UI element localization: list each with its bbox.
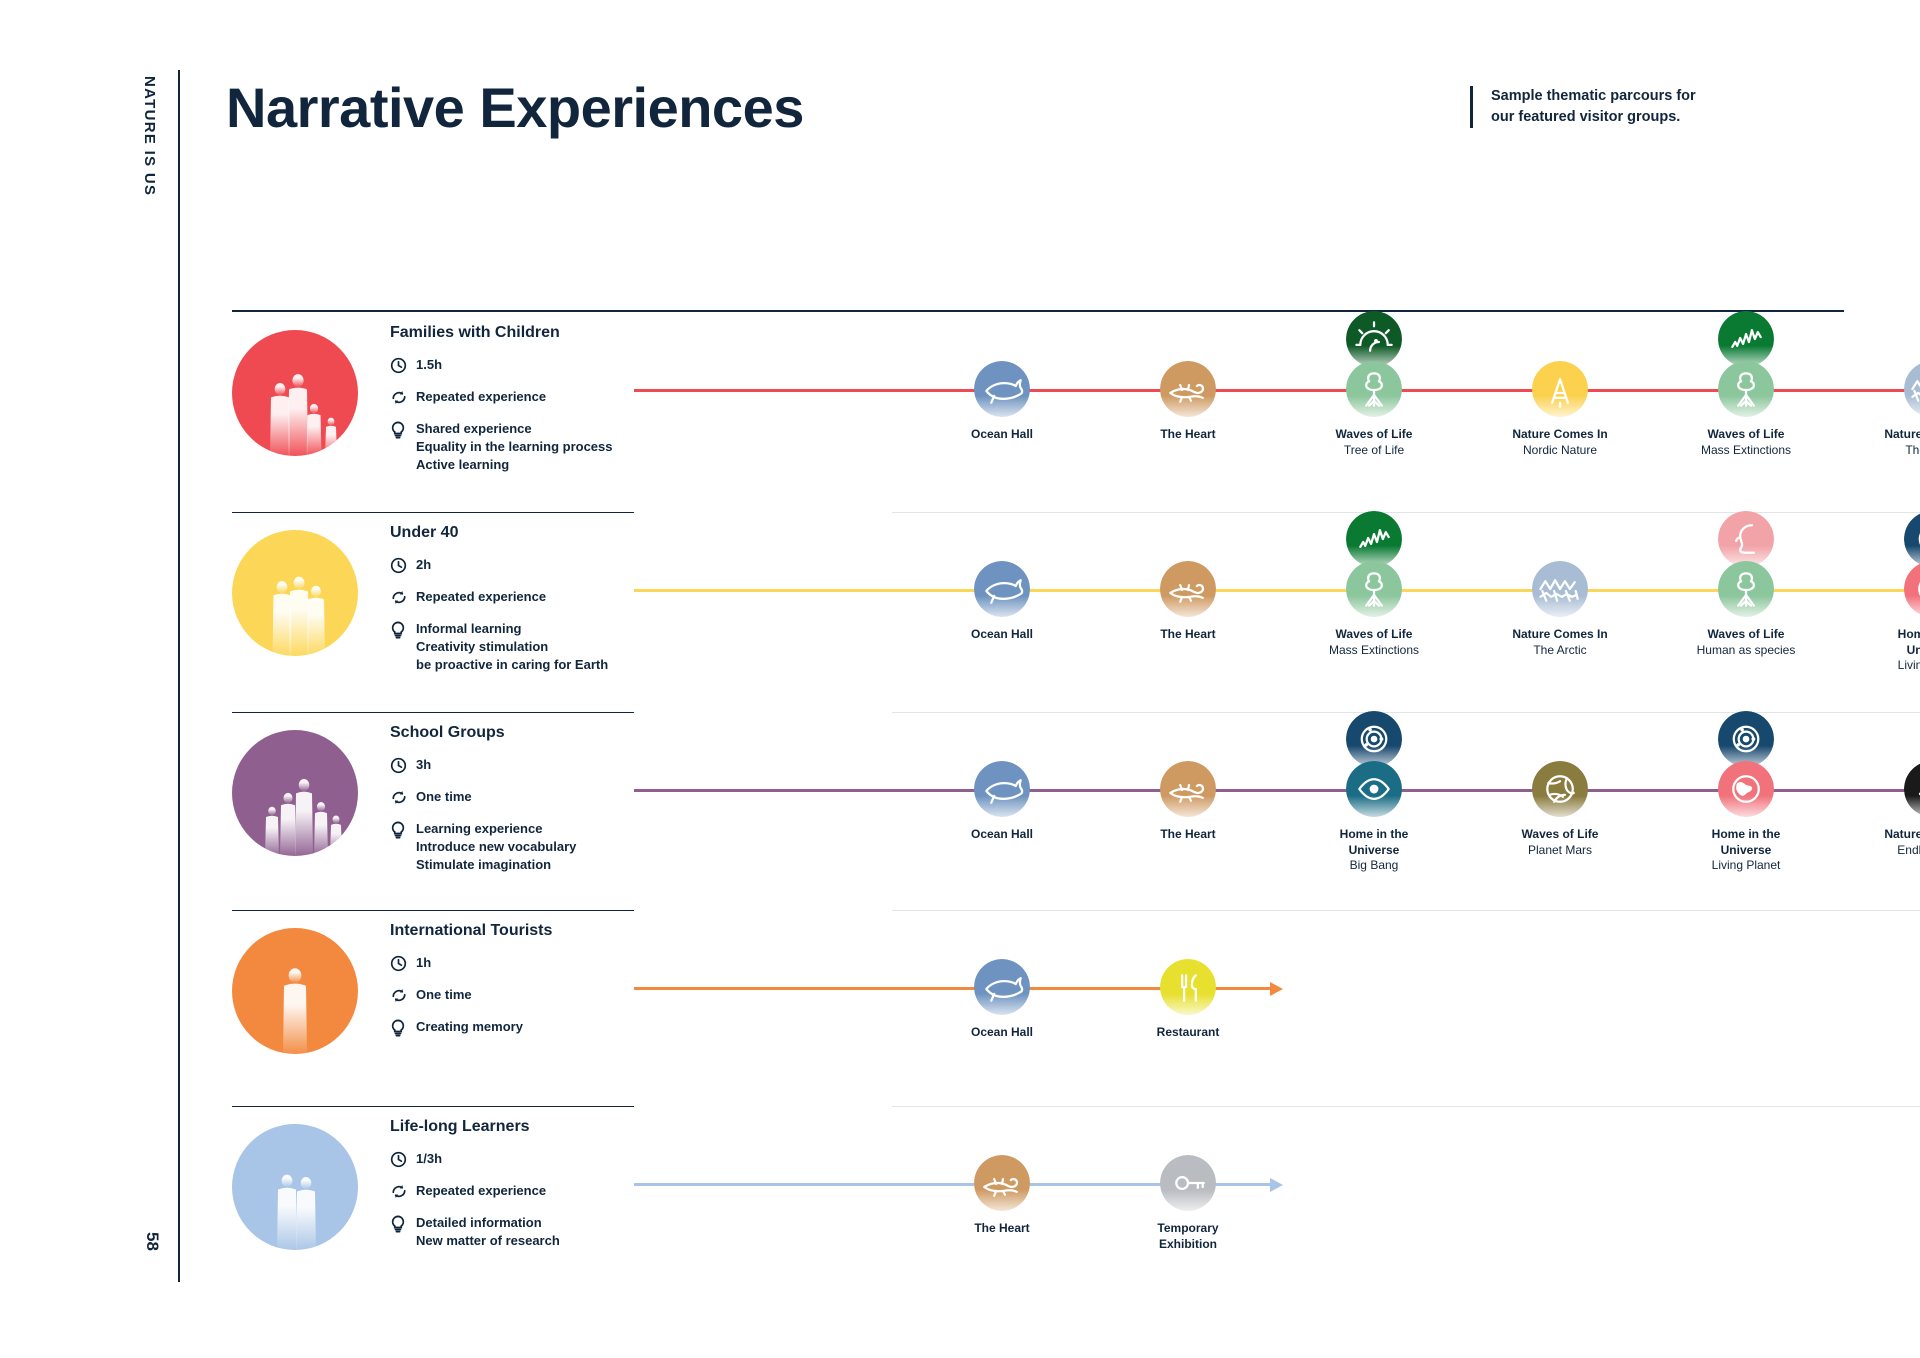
- repeat-icon: [390, 1182, 416, 1205]
- visitor-group-avatar: [232, 730, 358, 856]
- parcours-stop-icons[interactable]: [1346, 761, 1402, 817]
- visitor-group-attribute-text: 2h: [416, 556, 431, 574]
- parcours-stop-label: Ocean Hall: [947, 427, 1057, 443]
- visitor-group-attribute-text: Repeated experience: [416, 388, 546, 406]
- visitor-group-details: Families with Children1.5hRepeated exper…: [390, 324, 640, 483]
- parcours-stop-icons[interactable]: [974, 1155, 1030, 1211]
- parcours-stop-label: Waves of Life: [1319, 427, 1429, 443]
- parcours-stop[interactable]: Nature Comes InThe Arctic: [1505, 561, 1615, 658]
- visitor-group-attribute: 1/3h: [390, 1150, 640, 1173]
- visitor-group-attribute-text: 1h: [416, 954, 431, 972]
- tree-of-life-icon[interactable]: [1718, 561, 1774, 617]
- parcours-stop-icons[interactable]: [1904, 761, 1920, 817]
- parcours-stop-label: The Heart: [1133, 627, 1243, 643]
- salamander-icon[interactable]: [1160, 361, 1216, 417]
- family-with-children-silhouette: [232, 330, 358, 456]
- visitor-group-attribute-text: One time: [416, 788, 472, 806]
- parcours-stop-sublabel: The Arctic: [1505, 643, 1615, 659]
- clock-icon: [390, 954, 416, 977]
- parcours-stop-sublabel: Mass Extinctions: [1319, 643, 1429, 659]
- visitor-group-parcours: Ocean Hall The Heart: [634, 312, 1844, 512]
- whale-icon[interactable]: [974, 361, 1030, 417]
- visitor-group-attribute-text: Creating memory: [416, 1018, 523, 1036]
- visitor-group-name: International Tourists: [390, 922, 640, 940]
- visitor-group-attribute: Repeated experience: [390, 1182, 640, 1205]
- parcours-stop-label: Nature Comes In: [1877, 427, 1920, 443]
- page-title: Narrative Experiences: [226, 80, 804, 136]
- visitor-group-goal: Creativity stimulation: [416, 638, 608, 656]
- iceberg-icon[interactable]: [1532, 561, 1588, 617]
- clock-icon: [390, 556, 416, 579]
- visitor-group-profile: Life-long Learners1/3hRepeated experienc…: [232, 1106, 634, 1302]
- parcours-stop[interactable]: Waves of LifeHuman as species: [1691, 561, 1801, 658]
- visitor-group-row[interactable]: Under 402hRepeated experienceInformal le…: [232, 512, 1844, 712]
- visitor-group-attribute: 2h: [390, 556, 640, 579]
- repeat-icon: [390, 388, 416, 411]
- school-group-silhouette: [232, 730, 358, 856]
- visitor-group-goal: New matter of research: [416, 1232, 560, 1250]
- big-bang-eye-icon[interactable]: [1346, 761, 1402, 817]
- visitor-group-row[interactable]: Families with Children1.5hRepeated exper…: [232, 312, 1844, 512]
- parcours-stop-label: Ocean Hall: [947, 1025, 1057, 1041]
- visitor-group-attribute: Creating memory: [390, 1018, 640, 1042]
- visitor-group-attribute-text: 1/3h: [416, 1150, 442, 1168]
- parcours-stop-label: Waves of Life: [1691, 427, 1801, 443]
- parcours-stop[interactable]: Waves of LifeMass Extinctions: [1691, 361, 1801, 458]
- visitor-group-attribute: Shared experienceEquality in the learnin…: [390, 420, 640, 474]
- atom-orbit-icon[interactable]: [1718, 711, 1774, 767]
- visitor-group-parcours: Ocean Hall The Heart: [634, 512, 1844, 712]
- header-caption: Sample thematic parcours for our feature…: [1470, 86, 1696, 128]
- parcours-stop-icons[interactable]: [1718, 361, 1774, 417]
- visitor-group-goal: Introduce new vocabulary: [416, 838, 576, 856]
- salamander-icon[interactable]: [974, 1155, 1030, 1211]
- visitor-group-goal: Equality in the learning process: [416, 438, 613, 456]
- parcours-stop-label: Home in the Universe: [1877, 627, 1920, 658]
- page-number: 58: [142, 1232, 162, 1251]
- visitor-group-goal: Stimulate imagination: [416, 856, 576, 874]
- parcours-stop-icons[interactable]: [974, 561, 1030, 617]
- parcours-stop-label: Waves of Life: [1505, 827, 1615, 843]
- parcours-stop[interactable]: Nature Comes InEndless Void: [1877, 761, 1920, 858]
- parcours-stop-sublabel: Tree of Life: [1319, 443, 1429, 459]
- visitor-group-name: Families with Children: [390, 324, 640, 342]
- visitor-group-attribute: Repeated experience: [390, 588, 640, 611]
- parcours-stop-label: The Heart: [1133, 827, 1243, 843]
- parcours-stop-icons[interactable]: [1160, 959, 1216, 1015]
- visitor-group-attribute-text: Repeated experience: [416, 1182, 546, 1200]
- header-caption-line-1: Sample thematic parcours for: [1491, 86, 1696, 107]
- parcours-stop-icons[interactable]: [1160, 1155, 1216, 1211]
- parcours-stop-icons[interactable]: [1532, 761, 1588, 817]
- tree-of-life-icon[interactable]: [1346, 561, 1402, 617]
- extinction-graph-icon[interactable]: [1718, 311, 1774, 367]
- parcours-stop-icons[interactable]: [974, 761, 1030, 817]
- visitor-group-goal: Active learning: [416, 456, 613, 474]
- lightbulb-icon: [390, 1018, 416, 1042]
- parcours-stop-icons[interactable]: [1160, 361, 1216, 417]
- salamander-icon[interactable]: [1160, 761, 1216, 817]
- living-planet-icon[interactable]: [1718, 761, 1774, 817]
- parcours-stop[interactable]: Ocean Hall: [947, 561, 1057, 643]
- parcours-stop-icons[interactable]: [1160, 561, 1216, 617]
- salamander-icon[interactable]: [1160, 561, 1216, 617]
- visitor-group-parcours: The Heart Temporary Exhibition: [634, 1106, 1844, 1302]
- parcours-stop[interactable]: Nature Comes InNordic Nature: [1505, 361, 1615, 458]
- atom-orbit-icon[interactable]: [1904, 511, 1920, 567]
- visitor-group-goal: be proactive in caring for Earth: [416, 656, 608, 674]
- visitor-group-attribute-text: Detailed informationNew matter of resear…: [416, 1214, 560, 1250]
- clock-icon: [390, 356, 416, 379]
- parcours-stop-label: Home in the Universe: [1319, 827, 1429, 858]
- parcours-stop[interactable]: Nature Comes InThe Arctic: [1877, 361, 1920, 458]
- parcours-stop[interactable]: Ocean Hall: [947, 959, 1057, 1041]
- visitor-group-attribute: Detailed informationNew matter of resear…: [390, 1214, 640, 1250]
- visitor-group-attribute-text: Repeated experience: [416, 588, 546, 606]
- narrative-experiences-page: NATURE IS US 58 Narrative Experiences Sa…: [0, 0, 1920, 1358]
- visitor-group-attribute: Informal learningCreativity stimulationb…: [390, 620, 640, 674]
- parcours-stop-icons[interactable]: [1532, 561, 1588, 617]
- visitor-group-attribute: 3h: [390, 756, 640, 779]
- visitor-group-details: Under 402hRepeated experienceInformal le…: [390, 524, 640, 683]
- parcours-stop-icons[interactable]: [1346, 361, 1402, 417]
- visitor-group-attribute-text: One time: [416, 986, 472, 1004]
- conifer-icon[interactable]: [1532, 361, 1588, 417]
- visitor-group-goal: Informal learning: [416, 620, 608, 638]
- living-planet-icon[interactable]: [1904, 561, 1920, 617]
- cutlery-icon[interactable]: [1160, 959, 1216, 1015]
- header-caption-line-2: our featured visitor groups.: [1491, 107, 1696, 128]
- young-adults-silhouette: [232, 530, 358, 656]
- parcours-stop[interactable]: Waves of LifeTree of Life: [1319, 361, 1429, 458]
- repeat-icon: [390, 986, 416, 1009]
- visitor-group-goal: Detailed information: [416, 1214, 560, 1232]
- human-head-icon[interactable]: [1718, 511, 1774, 567]
- lightbulb-icon: [390, 620, 416, 644]
- parcours-stop-label: The Heart: [1133, 427, 1243, 443]
- parcours-stop-icons[interactable]: [974, 959, 1030, 1015]
- void-icon[interactable]: [1904, 761, 1920, 817]
- visitor-group-attribute-text: Shared experienceEquality in the learnin…: [416, 420, 613, 474]
- parcours-stop-label: Nature Comes In: [1505, 427, 1615, 443]
- parcours-stop[interactable]: Ocean Hall: [947, 761, 1057, 843]
- visitor-group-attribute: 1.5h: [390, 356, 640, 379]
- parcours-stop[interactable]: Home in the UniverseLiving Planet: [1877, 561, 1920, 674]
- visitor-group-attribute: One time: [390, 986, 640, 1009]
- parcours-stop-label: Waves of Life: [1319, 627, 1429, 643]
- parcours-stop-label: Nature Comes In: [1877, 827, 1920, 843]
- parcours-stop-icons[interactable]: [974, 361, 1030, 417]
- visitor-group-row[interactable]: Life-long Learners1/3hRepeated experienc…: [232, 1106, 1844, 1302]
- publication-title-vertical: NATURE IS US: [141, 76, 158, 196]
- parcours-stop-sublabel: Nordic Nature: [1505, 443, 1615, 459]
- lightbulb-icon: [390, 420, 416, 444]
- parcours-stop[interactable]: The Heart: [1133, 761, 1243, 843]
- parcours-stop-sublabel: Endless Void: [1877, 843, 1920, 859]
- parcours-stop[interactable]: Waves of LifePlanet Mars: [1505, 761, 1615, 858]
- whale-icon[interactable]: [974, 959, 1030, 1015]
- parcours-stop[interactable]: Home in the UniverseLiving Planet: [1691, 761, 1801, 874]
- parcours-stop-label: Nature Comes In: [1505, 627, 1615, 643]
- single-tourist-silhouette: [232, 928, 358, 1054]
- repeat-icon: [390, 588, 416, 611]
- parcours-stop-sublabel: Big Bang: [1319, 858, 1429, 874]
- parcours-stop[interactable]: The Heart: [1133, 561, 1243, 643]
- sundial-icon[interactable]: [1346, 311, 1402, 367]
- parcours-arrow-head: [1270, 982, 1283, 996]
- parcours-stop-sublabel: Human as species: [1691, 643, 1801, 659]
- visitor-group-profile: School Groups3hOne timeLearning experien…: [232, 712, 634, 910]
- visitor-group-avatar: [232, 530, 358, 656]
- planet-mars-icon[interactable]: [1532, 761, 1588, 817]
- elderly-couple-silhouette: [232, 1124, 358, 1250]
- tree-of-life-icon[interactable]: [1718, 361, 1774, 417]
- visitor-group-details: International Tourists1hOne timeCreating…: [390, 922, 640, 1051]
- visitor-group-attribute-text: Learning experienceIntroduce new vocabul…: [416, 820, 576, 874]
- parcours-stop[interactable]: Ocean Hall: [947, 361, 1057, 443]
- parcours-stop[interactable]: Waves of LifeMass Extinctions: [1319, 561, 1429, 658]
- parcours-stop[interactable]: The Heart: [947, 1155, 1057, 1237]
- visitor-group-parcours: Ocean Hall The Heart: [634, 712, 1844, 910]
- left-rail-divider: [178, 70, 180, 1282]
- parcours-stop-sublabel: Living Planet: [1691, 858, 1801, 874]
- visitor-group-attribute-text: 3h: [416, 756, 431, 774]
- whale-icon[interactable]: [974, 761, 1030, 817]
- visitor-group-row[interactable]: International Tourists1hOne timeCreating…: [232, 910, 1844, 1106]
- parcours-stop[interactable]: Home in the UniverseBig Bang: [1319, 761, 1429, 874]
- parcours-stop-label: Ocean Hall: [947, 627, 1057, 643]
- visitor-group-row[interactable]: School Groups3hOne timeLearning experien…: [232, 712, 1844, 910]
- parcours-stop-sublabel: Living Planet: [1877, 658, 1920, 674]
- visitor-group-attribute-text: 1.5h: [416, 356, 442, 374]
- visitor-group-details: Life-long Learners1/3hRepeated experienc…: [390, 1118, 640, 1259]
- parcours-stop-label: Home in the Universe: [1691, 827, 1801, 858]
- parcours-stop-icons[interactable]: [1346, 561, 1402, 617]
- visitor-group-goal: Creating memory: [416, 1018, 523, 1036]
- parcours-stop[interactable]: Restaurant: [1133, 959, 1243, 1041]
- clock-icon: [390, 1150, 416, 1173]
- parcours-stop-sublabel: Mass Extinctions: [1691, 443, 1801, 459]
- visitor-group-profile: International Tourists1hOne timeCreating…: [232, 910, 634, 1106]
- visitor-group-name: School Groups: [390, 724, 640, 742]
- visitor-group-name: Under 40: [390, 524, 640, 542]
- tree-of-life-icon[interactable]: [1346, 361, 1402, 417]
- whale-icon[interactable]: [974, 561, 1030, 617]
- visitor-group-avatar: [232, 928, 358, 1054]
- atom-orbit-icon[interactable]: [1346, 711, 1402, 767]
- visitor-group-profile: Families with Children1.5hRepeated exper…: [232, 312, 634, 512]
- parcours-stop-label: Temporary Exhibition: [1133, 1221, 1243, 1252]
- lightbulb-icon: [390, 820, 416, 844]
- lightbulb-icon: [390, 1214, 416, 1238]
- parcours-stop-label: Waves of Life: [1691, 627, 1801, 643]
- visitor-group-goal: Learning experience: [416, 820, 576, 838]
- parcours-stop-sublabel: The Arctic: [1877, 443, 1920, 459]
- parcours-stop-icons[interactable]: [1904, 561, 1920, 617]
- parcours-stop-icons[interactable]: [1160, 761, 1216, 817]
- parcours-stop-icons[interactable]: [1718, 561, 1774, 617]
- extinction-graph-icon[interactable]: [1346, 511, 1402, 567]
- visitor-group-profile: Under 402hRepeated experienceInformal le…: [232, 512, 634, 712]
- visitor-group-goal: Shared experience: [416, 420, 613, 438]
- visitor-group-rows: Families with Children1.5hRepeated exper…: [232, 312, 1844, 1302]
- key-icon[interactable]: [1160, 1155, 1216, 1211]
- parcours-stop-icons[interactable]: [1718, 761, 1774, 817]
- parcours-stop-icons[interactable]: [1532, 361, 1588, 417]
- visitor-group-details: School Groups3hOne timeLearning experien…: [390, 724, 640, 883]
- parcours-stop-icons[interactable]: [1904, 361, 1920, 417]
- visitor-group-attribute: One time: [390, 788, 640, 811]
- visitor-group-avatar: [232, 330, 358, 456]
- clock-icon: [390, 756, 416, 779]
- parcours-stop-sublabel: Planet Mars: [1505, 843, 1615, 859]
- parcours-stop[interactable]: Temporary Exhibition: [1133, 1155, 1243, 1252]
- parcours-stop-label: The Heart: [947, 1221, 1057, 1237]
- parcours-stop-label: Ocean Hall: [947, 827, 1057, 843]
- iceberg-icon[interactable]: [1904, 361, 1920, 417]
- visitor-group-parcours: Ocean Hall Restaurant: [634, 910, 1844, 1106]
- visitor-group-avatar: [232, 1124, 358, 1250]
- visitor-group-attribute: Repeated experience: [390, 388, 640, 411]
- visitor-group-attribute-text: Informal learningCreativity stimulationb…: [416, 620, 608, 674]
- visitor-group-name: Life-long Learners: [390, 1118, 640, 1136]
- parcours-arrow-head: [1270, 1178, 1283, 1192]
- visitor-group-attribute: 1h: [390, 954, 640, 977]
- parcours-stop[interactable]: The Heart: [1133, 361, 1243, 443]
- repeat-icon: [390, 788, 416, 811]
- parcours-stop-label: Restaurant: [1133, 1025, 1243, 1041]
- visitor-group-attribute: Learning experienceIntroduce new vocabul…: [390, 820, 640, 874]
